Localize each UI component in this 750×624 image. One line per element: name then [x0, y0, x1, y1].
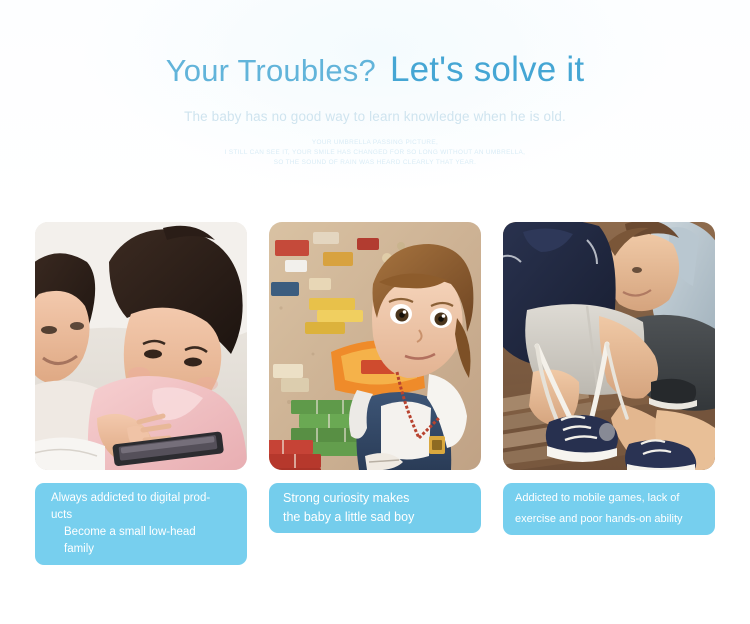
caption-line: Addicted to mobile games, lack of: [515, 488, 703, 509]
feature-card-3[interactable]: Addicted to mobile games, lack of exerci…: [503, 222, 715, 565]
decorative-micro-copy: YOUR UMBRELLA PASSING PICTURE, I STILL C…: [0, 138, 750, 168]
caption-line: family: [51, 541, 235, 558]
feature-card-row: Always addicted to digital prod- ucts Be…: [35, 222, 715, 565]
feature-card-1[interactable]: Always addicted to digital prod- ucts Be…: [35, 222, 247, 565]
banner-header: Your Troubles?Let's solve it The baby ha…: [0, 0, 750, 168]
caption-line: exercise and poor hands-on ability: [515, 509, 703, 530]
caption-line: Strong curiosity makes: [283, 489, 467, 508]
feature-card-2[interactable]: Strong curiosity makes the baby a little…: [269, 222, 481, 565]
micro-copy-line-3: SO THE SOUND OF RAIN WAS HEARD CLEARLY T…: [0, 158, 750, 168]
toddler-with-building-blocks-photo: [269, 222, 481, 470]
promo-banner: Your Troubles?Let's solve it The baby ha…: [0, 0, 750, 624]
page-title: Your Troubles?Let's solve it: [0, 52, 750, 87]
caption-line: Become a small low-head: [51, 524, 235, 541]
micro-copy-line-2: I STILL CAN SEE IT, YOUR SMILE HAS CHANG…: [0, 148, 750, 158]
caption-line: the baby a little sad boy: [283, 508, 467, 527]
page-subtitle: The baby has no good way to learn knowle…: [0, 109, 750, 124]
two-children-using-smartphone-photo: [35, 222, 247, 470]
caption-line: ucts: [51, 507, 235, 524]
title-accent-text: Let's solve it: [390, 50, 584, 89]
caption-line: Always addicted to digital prod-: [51, 490, 235, 507]
feature-card-1-caption: Always addicted to digital prod- ucts Be…: [35, 483, 247, 565]
adult-teaching-child-to-tie-shoelaces-photo: [503, 222, 715, 470]
feature-card-2-caption: Strong curiosity makes the baby a little…: [269, 483, 481, 533]
title-main-text: Your Troubles?: [166, 53, 376, 88]
micro-copy-line-1: YOUR UMBRELLA PASSING PICTURE,: [0, 138, 750, 148]
feature-card-3-caption: Addicted to mobile games, lack of exerci…: [503, 483, 715, 535]
